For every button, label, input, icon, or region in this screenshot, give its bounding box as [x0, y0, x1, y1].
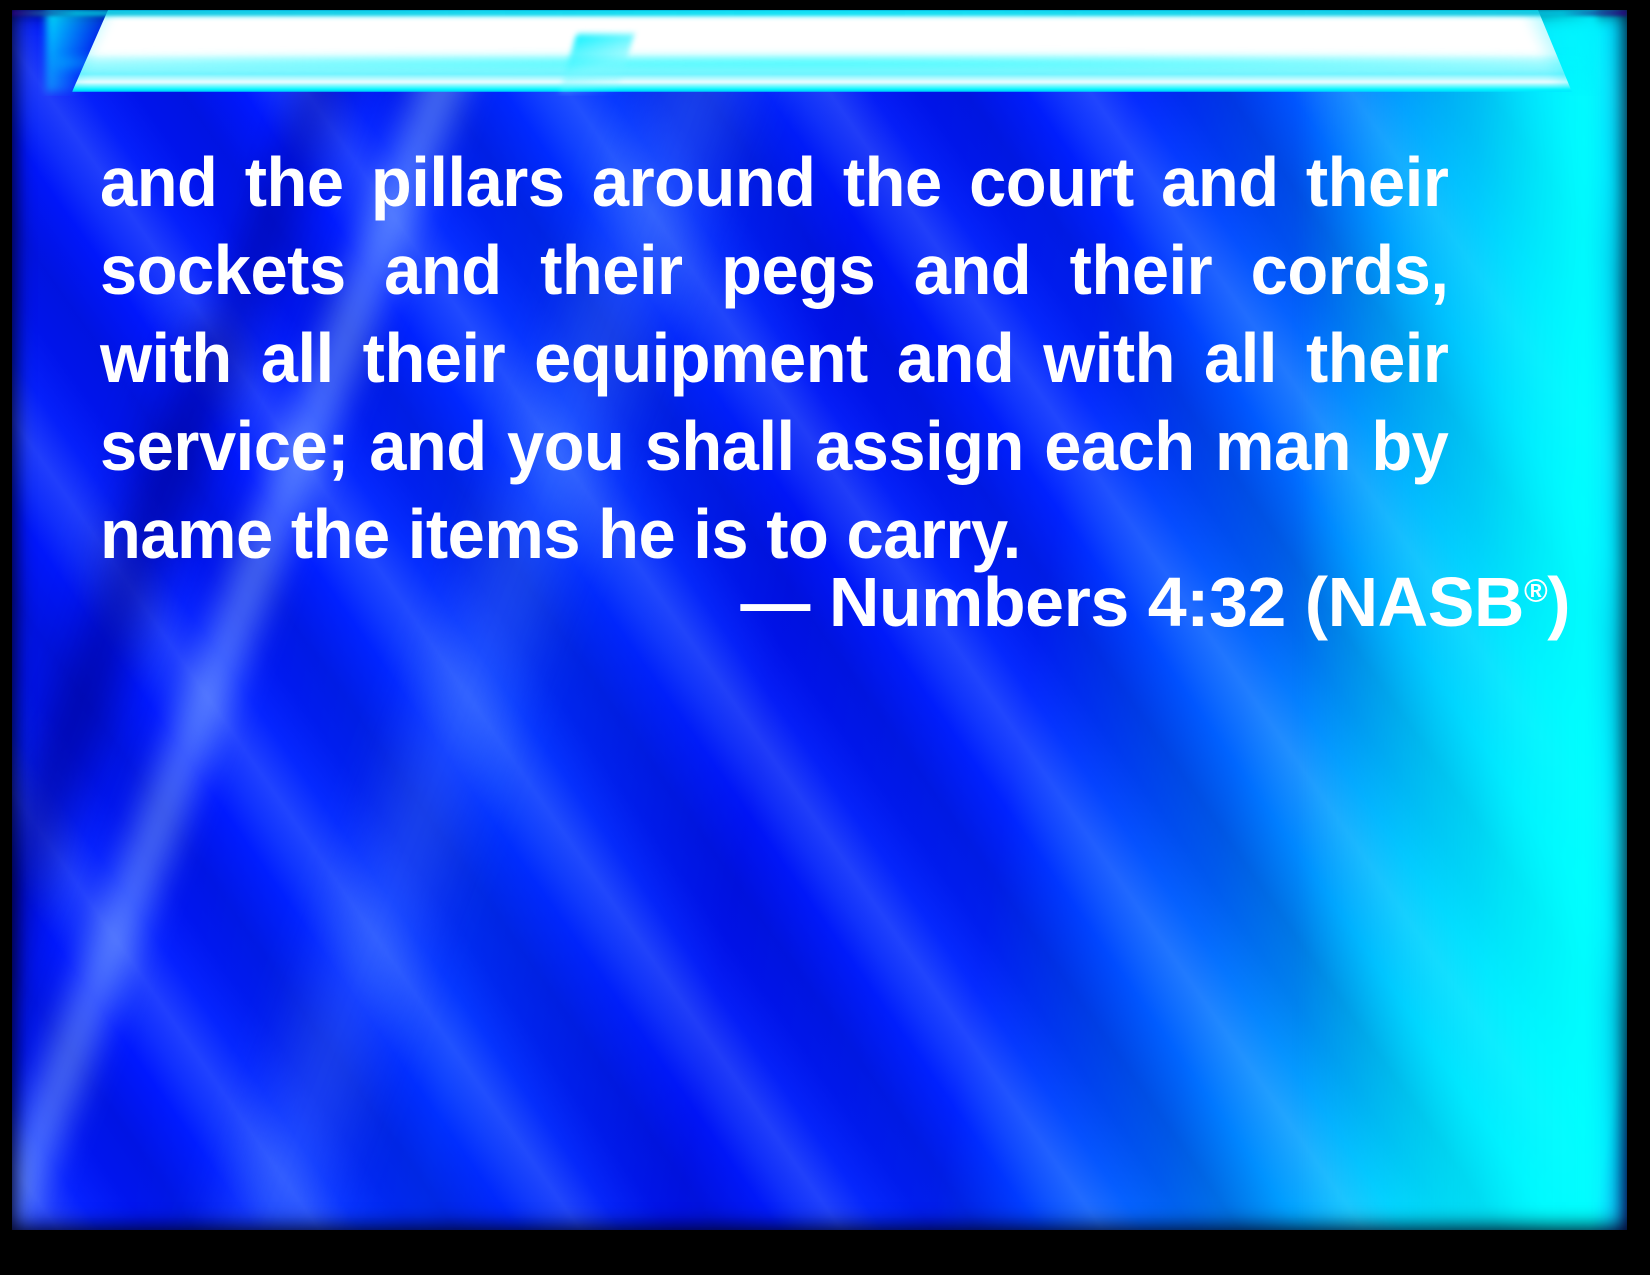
verse-word: all: [1204, 314, 1277, 402]
verse-word: their: [1306, 138, 1448, 226]
verse-word: and: [897, 314, 1014, 402]
verse-word: shall: [645, 402, 795, 490]
verse-line-3: with all their equipment and with all th…: [100, 314, 1448, 402]
header-band: [12, 10, 1627, 96]
header-band-right-taper: [1507, 10, 1597, 92]
verse-word: all: [261, 314, 334, 402]
verse-word: and: [384, 226, 501, 314]
verse-word: cords,: [1251, 226, 1449, 314]
verse-word: around: [592, 138, 816, 226]
header-band-left-taper: [46, 10, 126, 92]
verse-word: their: [1306, 314, 1448, 402]
verse-word: and: [100, 138, 217, 226]
citation-translation: NASB: [1328, 563, 1524, 641]
verse-citation: — Numbers 4:32 (NASB®): [100, 558, 1570, 646]
verse-word: their: [1070, 226, 1212, 314]
verse-word: their: [540, 226, 682, 314]
verse-word: with: [100, 314, 232, 402]
verse-line-2: sockets and their pegs and their cords,: [100, 226, 1448, 314]
verse-word: and: [1161, 138, 1278, 226]
citation-book: Numbers: [829, 563, 1129, 641]
verse-word: pillars: [371, 138, 565, 226]
verse-line-1: and the pillars around the court and the…: [100, 138, 1448, 226]
registered-trademark-icon: ®: [1524, 573, 1547, 609]
header-band-core: [72, 10, 1572, 92]
verse-word: and: [914, 226, 1031, 314]
verse-word: by: [1371, 402, 1448, 490]
verse-text-block: and the pillars around the court and the…: [100, 138, 1512, 578]
verse-line-4: service; and you shall assign each man b…: [100, 402, 1448, 490]
citation-em-dash: —: [740, 563, 810, 641]
verse-word: each: [1044, 402, 1194, 490]
verse-word: man: [1215, 402, 1351, 490]
slide-frame: and the pillars around the court and the…: [0, 0, 1650, 1275]
verse-word: the: [245, 138, 344, 226]
header-band-cyan-highlight: [58, 57, 1585, 69]
verse-word: their: [363, 314, 505, 402]
verse-word: court: [969, 138, 1134, 226]
slide-canvas: and the pillars around the court and the…: [12, 10, 1627, 1230]
verse-word: pegs: [721, 226, 875, 314]
verse-word: and: [369, 402, 486, 490]
citation-reference: 4:32: [1148, 563, 1286, 641]
verse-word: equipment: [534, 314, 868, 402]
verse-word: the: [843, 138, 942, 226]
verse-word: you: [507, 402, 624, 490]
verse-word: with: [1043, 314, 1175, 402]
header-band-top-edge: [12, 10, 1627, 16]
verse-word: service;: [100, 402, 349, 490]
verse-word: assign: [815, 402, 1024, 490]
verse-word: sockets: [100, 226, 346, 314]
